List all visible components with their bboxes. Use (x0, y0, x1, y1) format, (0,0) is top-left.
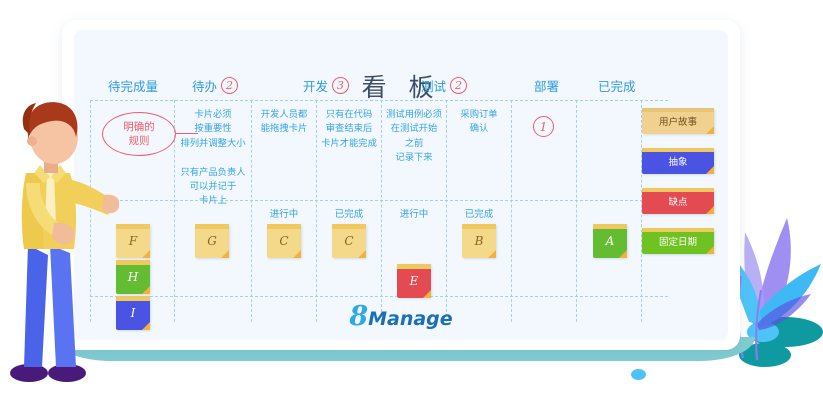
subheader-test-doing: 进行中 (383, 206, 445, 220)
column-header-done[interactable]: 已完成 (598, 76, 636, 95)
card-strip (116, 260, 150, 265)
card-label: A (606, 234, 615, 248)
kanban-card[interactable]: I (116, 296, 150, 330)
wip-limit-badge-deploy: 1 (533, 116, 554, 137)
chip-strip (642, 148, 714, 152)
chip-fold-icon (706, 246, 714, 254)
chip-strip (642, 188, 714, 192)
grid-divider (576, 100, 577, 322)
legend-user-story[interactable]: 用户故事 (642, 108, 714, 134)
rule-test-doing: 测试用例必须 在测试开始 之前 记录下来 (383, 108, 445, 166)
legend-label: 缺点 (668, 194, 687, 208)
card-strip (195, 224, 229, 229)
grid-divider (381, 100, 382, 322)
card-label: I (131, 306, 136, 320)
kanban-illustration: 看 板 待完成量 待办 2 开发 3 测试 2 部署 已完成 (0, 0, 823, 412)
card-fold-icon (293, 250, 301, 258)
kanban-card[interactable]: C (332, 224, 366, 258)
brand-logo: 8 Manage (349, 303, 452, 330)
legend-fixed-date[interactable]: 固定日期 (642, 228, 714, 254)
column-label: 测试 (421, 76, 446, 95)
board-dot-decoration (631, 369, 646, 380)
wip-limit-badge: 3 (332, 77, 349, 94)
column-header-backlog[interactable]: 待完成量 (108, 76, 158, 95)
kanban-card[interactable]: E (397, 264, 431, 298)
legend-defect[interactable]: 缺点 (642, 188, 714, 214)
card-fold-icon (423, 290, 431, 298)
person-illustration (4, 95, 119, 385)
rule-dev-doing: 开发人员都 能拖拽卡片 (253, 108, 315, 137)
column-header-row: 待完成量 待办 2 开发 3 测试 2 部署 已完成 (90, 76, 650, 100)
column-label: 开发 (303, 76, 328, 95)
subheader-test-done: 已完成 (448, 206, 510, 220)
card-strip (267, 224, 301, 229)
board-grid: 明确的 规则 卡片必须 按重要性 排列并调整大小 只有产品负责人 可以并记于 卡… (90, 100, 668, 322)
column-label: 已完成 (598, 76, 636, 95)
chip-fold-icon (706, 126, 714, 134)
wip-limit-badge: 2 (221, 77, 238, 94)
card-label: H (128, 270, 138, 284)
column-label: 待办 (192, 76, 217, 95)
subheader-dev-done: 已完成 (318, 206, 380, 220)
card-label: G (207, 234, 217, 248)
kanban-card[interactable]: H (116, 260, 150, 294)
chip-strip (642, 108, 714, 112)
card-fold-icon (221, 250, 229, 258)
rule-todo: 卡片必须 按重要性 排列并调整大小 只有产品负责人 可以并记于 卡片上 (176, 108, 250, 209)
card-type-legend: 用户故事 抽象 缺点 固定日期 (642, 108, 720, 268)
card-label: E (410, 274, 419, 288)
card-fold-icon (142, 286, 150, 294)
wip-limit-badge: 2 (450, 77, 467, 94)
card-strip (116, 296, 150, 301)
grid-line-top (90, 100, 668, 101)
kanban-card[interactable]: G (195, 224, 229, 258)
column-header-test[interactable]: 测试 2 (421, 76, 467, 95)
card-fold-icon (619, 250, 627, 258)
kanban-card[interactable]: A (593, 224, 627, 258)
subheader-dev-doing: 进行中 (253, 206, 315, 220)
card-fold-icon (142, 322, 150, 330)
rule-dev-done: 只有在代码 审查结束后 卡片才能完成 (318, 108, 380, 151)
card-label: C (279, 234, 288, 248)
legend-label: 用户故事 (659, 114, 697, 128)
chip-fold-icon (706, 206, 714, 214)
chip-strip (642, 228, 714, 232)
column-header-deploy[interactable]: 部署 (534, 76, 559, 95)
card-label: F (129, 234, 137, 248)
grid-line-bottom (90, 296, 668, 297)
grid-divider (511, 100, 512, 322)
kanban-card[interactable]: F (116, 224, 150, 258)
card-label: C (344, 234, 353, 248)
card-strip (397, 264, 431, 269)
card-strip (332, 224, 366, 229)
grid-divider (446, 100, 447, 322)
chip-fold-icon (706, 166, 714, 174)
grid-divider (251, 100, 252, 322)
card-strip (593, 224, 627, 229)
kanban-card[interactable]: B (462, 224, 496, 258)
legend-abstract[interactable]: 抽象 (642, 148, 714, 174)
card-fold-icon (142, 250, 150, 258)
grid-divider (316, 100, 317, 322)
card-label: B (475, 234, 484, 248)
kanban-board: 看 板 待完成量 待办 2 开发 3 测试 2 部署 已完成 (74, 30, 728, 340)
logo-text: Manage (368, 310, 453, 329)
card-strip (462, 224, 496, 229)
logo-mark: 8 (349, 303, 368, 330)
card-fold-icon (488, 250, 496, 258)
column-header-dev[interactable]: 开发 3 (303, 76, 349, 95)
card-fold-icon (358, 250, 366, 258)
column-label: 待完成量 (108, 76, 158, 95)
card-strip (116, 224, 150, 229)
kanban-card[interactable]: C (267, 224, 301, 258)
legend-label: 固定日期 (659, 234, 697, 248)
column-header-todo[interactable]: 待办 2 (192, 76, 238, 95)
legend-label: 抽象 (668, 154, 687, 168)
rule-test-done: 采购订单 确认 (448, 108, 510, 137)
column-label: 部署 (534, 76, 559, 95)
